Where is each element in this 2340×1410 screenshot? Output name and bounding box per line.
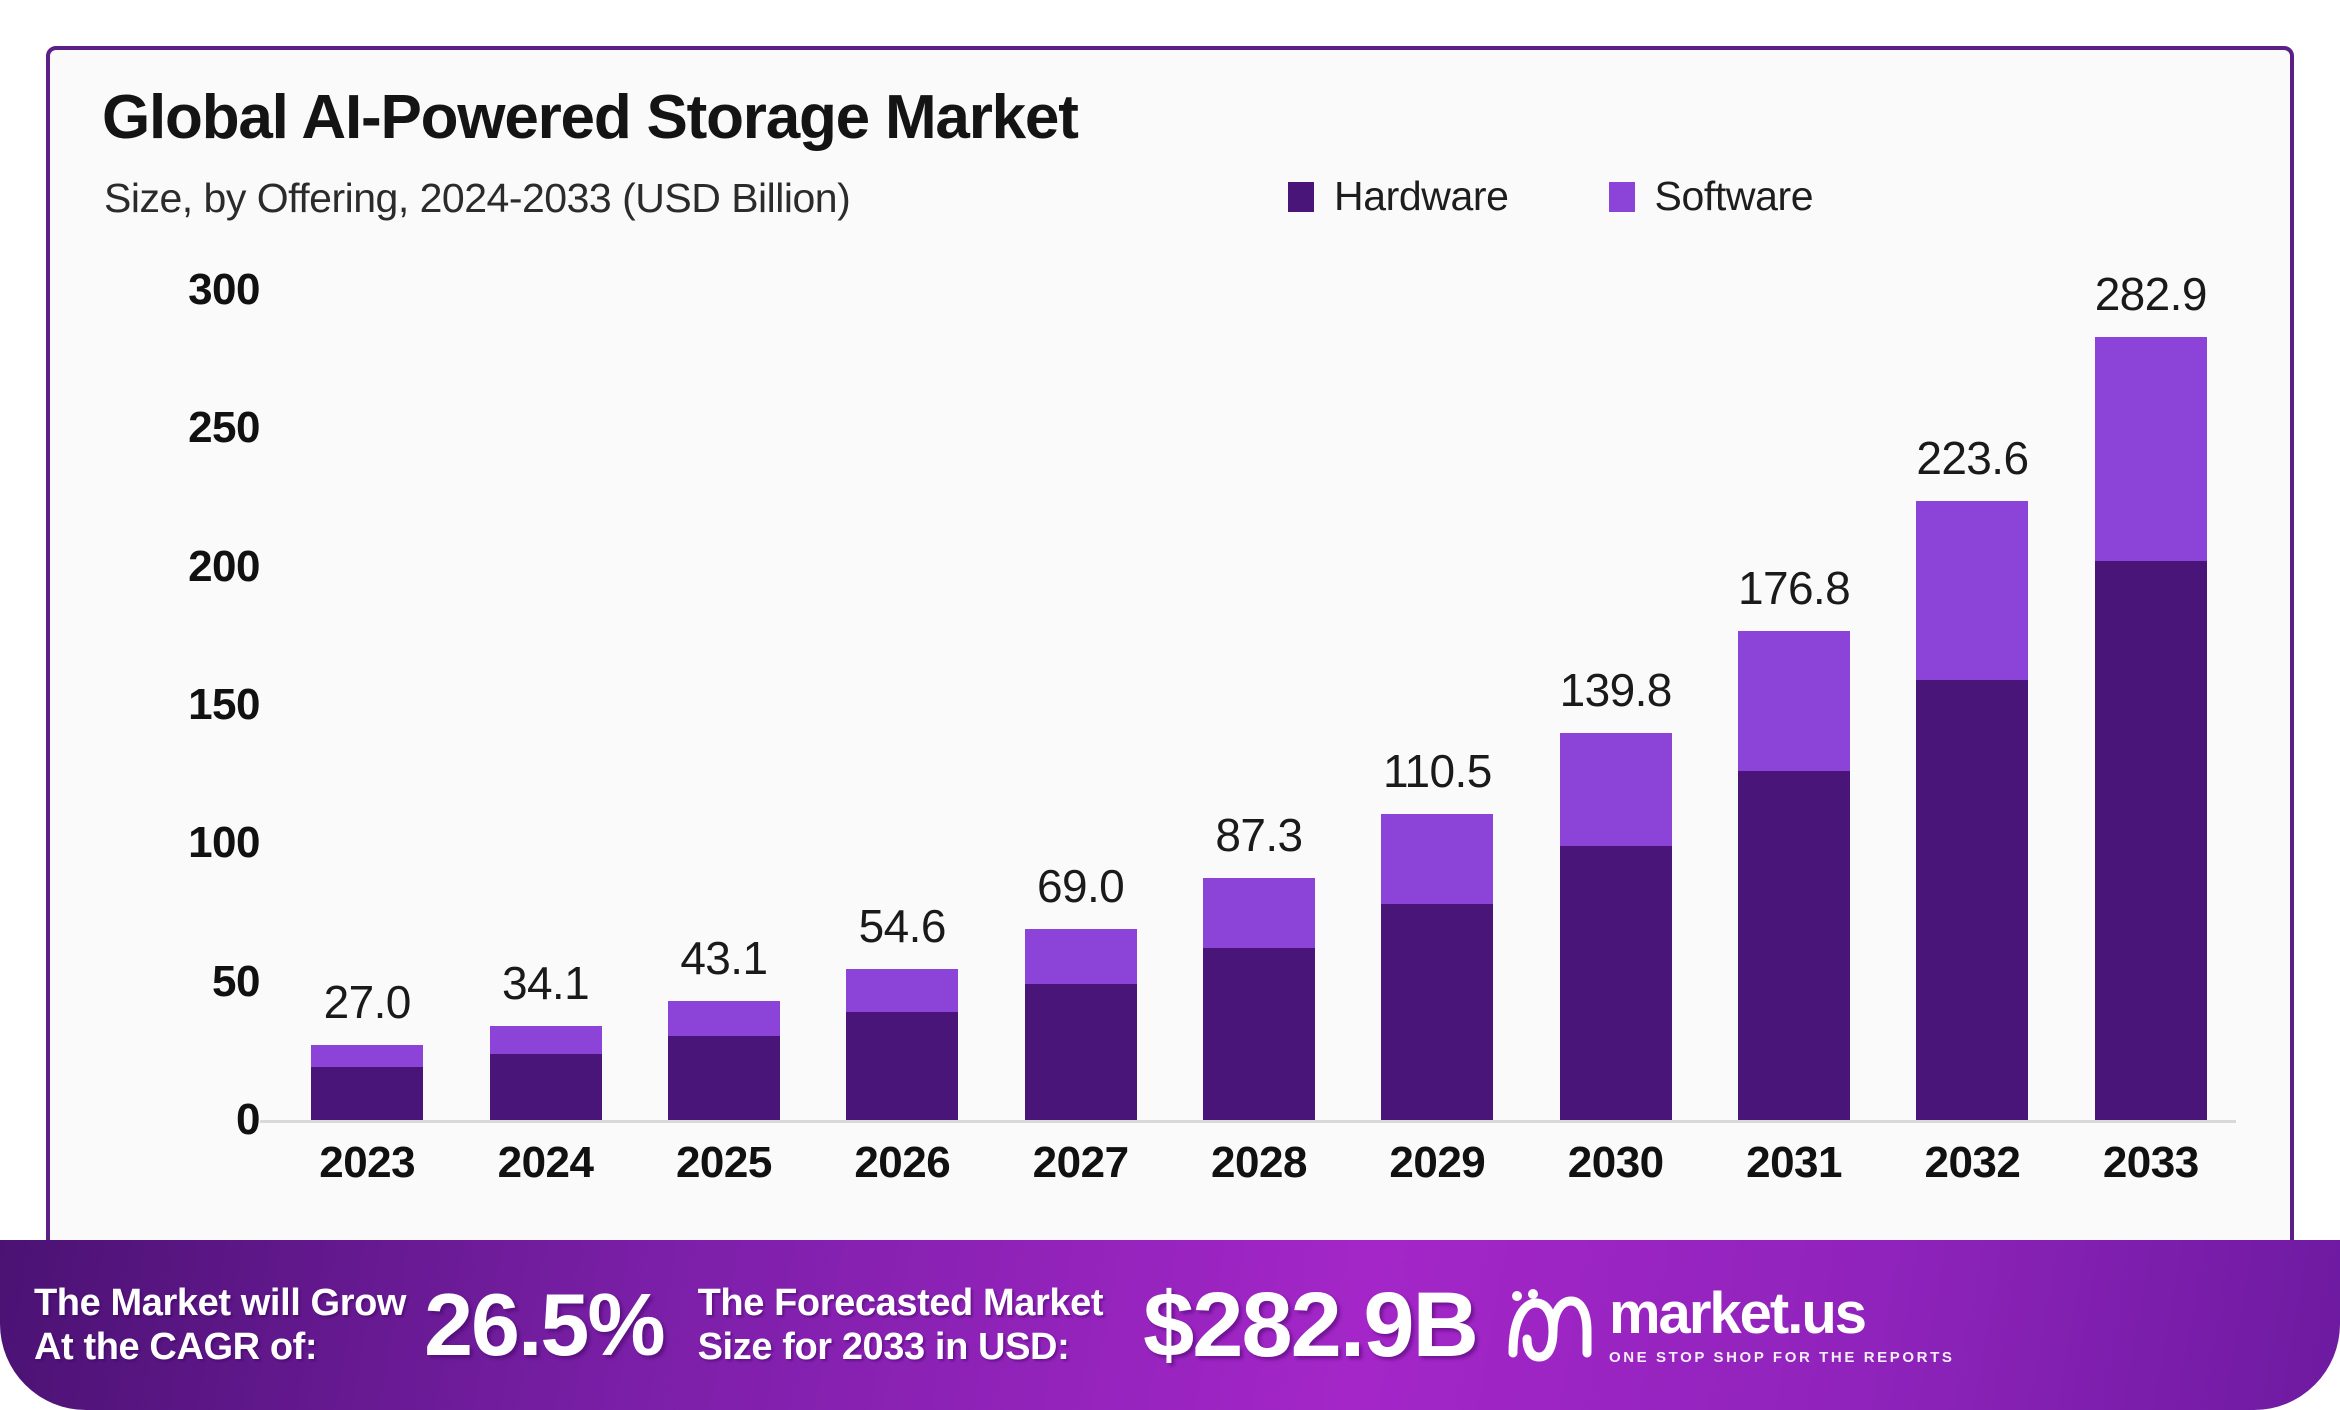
x-axis-tick: 2027 (991, 1138, 1169, 1188)
bar-column[interactable]: 34.1 (456, 290, 634, 1120)
x-axis-tick: 2024 (456, 1138, 634, 1188)
y-axis-tick: 250 (188, 403, 260, 453)
bar-column[interactable]: 69.0 (991, 290, 1169, 1120)
bar-stack[interactable] (1025, 929, 1137, 1120)
bar-segment-hardware[interactable] (2095, 561, 2207, 1120)
bar-stack[interactable] (1203, 878, 1315, 1120)
bar-value-label: 223.6 (1916, 431, 2028, 485)
bar-stack[interactable] (490, 1026, 602, 1120)
y-axis-tick: 100 (188, 818, 260, 868)
x-axis-tick: 2028 (1170, 1138, 1348, 1188)
bar-segment-software[interactable] (490, 1026, 602, 1054)
legend-item-hardware[interactable]: Hardware (1288, 173, 1509, 220)
x-axis-tick: 2032 (1883, 1138, 2061, 1188)
bar-stack[interactable] (846, 969, 958, 1120)
bar-column[interactable]: 27.0 (278, 290, 456, 1120)
brand-logo[interactable]: market.us ONE STOP SHOP FOR THE REPORTS (1503, 1285, 1954, 1366)
forecast-block: The Forecasted Market Size for 2033 in U… (698, 1273, 1477, 1378)
bar-segment-hardware[interactable] (1203, 948, 1315, 1120)
bar-segment-hardware[interactable] (668, 1036, 780, 1120)
axis-baseline (260, 1120, 2236, 1123)
bar-segment-software[interactable] (668, 1001, 780, 1036)
bar-segment-software[interactable] (1025, 929, 1137, 984)
bar-value-label: 282.9 (2095, 267, 2207, 321)
bar-segment-hardware[interactable] (1738, 771, 1850, 1120)
bar-segment-hardware[interactable] (846, 1012, 958, 1120)
legend-label-software: Software (1655, 173, 1814, 220)
cagr-value: 26.5% (424, 1274, 664, 1376)
bar-value-label: 54.6 (859, 899, 946, 953)
y-axis-tick: 0 (236, 1095, 260, 1145)
bar-stack[interactable] (2095, 337, 2207, 1120)
bars-area: 27.034.143.154.669.087.3110.5139.8176.82… (278, 290, 2240, 1120)
bar-segment-software[interactable] (1203, 878, 1315, 948)
brand-tagline: ONE STOP SHOP FOR THE REPORTS (1609, 1349, 1954, 1366)
forecast-caption-line1: The Forecasted Market (698, 1281, 1104, 1325)
brand-name: market.us (1609, 1285, 1865, 1343)
cagr-caption-line2: At the CAGR of: (34, 1325, 406, 1369)
bar-stack[interactable] (1738, 631, 1850, 1120)
x-axis-tick: 2025 (635, 1138, 813, 1188)
cagr-caption: The Market will Grow At the CAGR of: (34, 1281, 406, 1369)
bar-value-label: 69.0 (1037, 859, 1124, 913)
forecast-value: $282.9B (1143, 1273, 1477, 1378)
bar-segment-hardware[interactable] (311, 1067, 423, 1120)
bar-segment-software[interactable] (1738, 631, 1850, 772)
x-axis-tick: 2030 (1527, 1138, 1705, 1188)
bar-stack[interactable] (668, 1001, 780, 1120)
x-axis: 2023202420252026202720282029203020312032… (278, 1138, 2240, 1188)
bar-value-label: 139.8 (1560, 663, 1672, 717)
bar-value-label: 110.5 (1383, 744, 1492, 798)
bar-value-label: 43.1 (680, 931, 767, 985)
x-axis-tick: 2031 (1705, 1138, 1883, 1188)
bar-segment-hardware[interactable] (1560, 846, 1672, 1120)
bar-column[interactable]: 110.5 (1348, 290, 1526, 1120)
cagr-caption-line1: The Market will Grow (34, 1281, 406, 1325)
infographic-root: Global AI-Powered Storage Market Size, b… (0, 0, 2340, 1410)
y-axis-tick: 300 (188, 265, 260, 315)
bar-column[interactable]: 54.6 (813, 290, 991, 1120)
y-axis-tick: 50 (212, 957, 260, 1007)
cagr-block: The Market will Grow At the CAGR of: 26.… (34, 1274, 664, 1376)
bar-value-label: 27.0 (324, 975, 411, 1029)
bar-column[interactable]: 282.9 (2062, 290, 2240, 1120)
y-axis-tick: 150 (188, 680, 260, 730)
bar-segment-hardware[interactable] (1381, 904, 1493, 1120)
bar-segment-hardware[interactable] (490, 1054, 602, 1120)
bar-segment-hardware[interactable] (1025, 984, 1137, 1120)
forecast-caption-line2: Size for 2033 in USD: (698, 1325, 1104, 1369)
bar-value-label: 34.1 (502, 956, 589, 1010)
market-us-logo-icon (1503, 1287, 1599, 1363)
bar-value-label: 87.3 (1215, 808, 1302, 862)
bar-stack[interactable] (1381, 814, 1493, 1120)
x-axis-tick: 2023 (278, 1138, 456, 1188)
bar-segment-software[interactable] (1381, 814, 1493, 904)
x-axis-tick: 2033 (2062, 1138, 2240, 1188)
legend-label-hardware: Hardware (1334, 173, 1509, 220)
chart-legend: Hardware Software (1288, 173, 1813, 220)
legend-swatch-icon (1609, 182, 1635, 212)
chart-card: Global AI-Powered Storage Market Size, b… (46, 46, 2294, 1364)
y-axis-tick: 200 (188, 542, 260, 592)
bar-segment-hardware[interactable] (1916, 680, 2028, 1120)
summary-banner: The Market will Grow At the CAGR of: 26.… (0, 1240, 2340, 1410)
bar-column[interactable]: 139.8 (1527, 290, 1705, 1120)
bar-stack[interactable] (311, 1045, 423, 1120)
bar-segment-software[interactable] (2095, 337, 2207, 561)
legend-item-software[interactable]: Software (1609, 173, 1814, 220)
bar-column[interactable]: 87.3 (1170, 290, 1348, 1120)
bar-stack[interactable] (1560, 733, 1672, 1120)
bar-segment-software[interactable] (1560, 733, 1672, 846)
page-title: Global AI-Powered Storage Market (102, 82, 1078, 153)
bar-value-label: 176.8 (1738, 561, 1850, 615)
bar-segment-software[interactable] (311, 1045, 423, 1067)
x-axis-tick: 2026 (813, 1138, 991, 1188)
chart-plot-area: 050100150200250300 27.034.143.154.669.08… (110, 290, 2240, 1170)
chart-subtitle: Size, by Offering, 2024-2033 (USD Billio… (104, 175, 850, 222)
forecast-caption: The Forecasted Market Size for 2033 in U… (698, 1281, 1104, 1369)
bar-column[interactable]: 43.1 (635, 290, 813, 1120)
bar-stack[interactable] (1916, 501, 2028, 1120)
legend-swatch-icon (1288, 182, 1314, 212)
bar-segment-software[interactable] (1916, 501, 2028, 680)
brand-text: market.us ONE STOP SHOP FOR THE REPORTS (1609, 1285, 1954, 1366)
bar-column[interactable]: 223.6 (1883, 290, 2061, 1120)
x-axis-tick: 2029 (1348, 1138, 1526, 1188)
bar-segment-software[interactable] (846, 969, 958, 1012)
bar-column[interactable]: 176.8 (1705, 290, 1883, 1120)
y-axis: 050100150200250300 (110, 290, 260, 1120)
